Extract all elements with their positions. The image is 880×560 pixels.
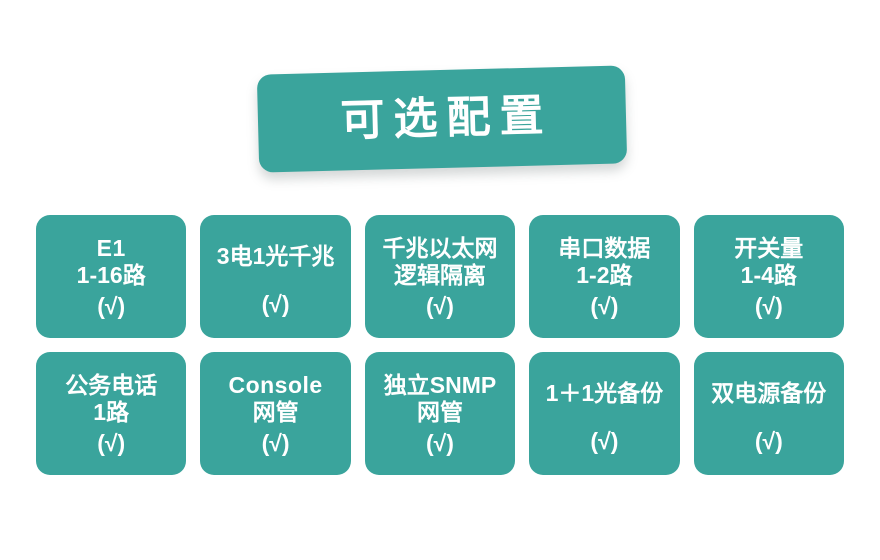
feature-card-label: 串口数据1-2路 [558, 235, 650, 289]
feature-card-line: 1路 [93, 399, 129, 426]
feature-card-line: 网管 [253, 399, 299, 426]
banner-title: 可选配置 [257, 65, 627, 172]
check-mark-icon: (√) [590, 293, 618, 320]
feature-card[interactable]: 公务电话1路(√) [36, 352, 186, 475]
feature-card[interactable]: 串口数据1-2路(√) [529, 215, 679, 338]
feature-card-line: 开关量 [734, 235, 803, 262]
feature-card-label: 公务电话1路 [65, 372, 157, 426]
feature-card[interactable]: 3电1光千兆(√) [200, 215, 350, 338]
feature-card[interactable]: E11-16路(√) [36, 215, 186, 338]
feature-card-line: 千兆以太网 [382, 235, 497, 262]
feature-card[interactable]: 双电源备份(√) [694, 352, 844, 475]
feature-card-line: 网管 [417, 399, 463, 426]
feature-card-line: 1＋1光备份 [546, 380, 664, 407]
feature-card-grid: E11-16路(√)3电1光千兆(√)千兆以太网逻辑隔离(√)串口数据1-2路(… [36, 215, 844, 475]
feature-card[interactable]: 开关量1-4路(√) [694, 215, 844, 338]
feature-card-label: 千兆以太网逻辑隔离 [382, 235, 497, 289]
feature-card-label: 独立SNMP网管 [384, 372, 496, 426]
check-mark-icon: (√) [590, 428, 618, 455]
feature-card-label: 3电1光千兆 [217, 243, 335, 270]
check-mark-icon: (√) [426, 293, 454, 320]
feature-card-line: 1-16路 [77, 262, 146, 289]
page-root: 可选配置 E11-16路(√)3电1光千兆(√)千兆以太网逻辑隔离(√)串口数据… [0, 0, 880, 560]
check-mark-icon: (√) [755, 293, 783, 320]
feature-card-line: E1 [97, 235, 126, 262]
feature-card-line: 逻辑隔离 [394, 262, 486, 289]
feature-card[interactable]: 独立SNMP网管(√) [365, 352, 515, 475]
check-mark-icon: (√) [97, 293, 125, 320]
feature-card-line: 1-4路 [741, 262, 797, 289]
check-mark-icon: (√) [262, 291, 290, 318]
section-banner: 可选配置 [258, 70, 626, 168]
feature-card[interactable]: 千兆以太网逻辑隔离(√) [365, 215, 515, 338]
feature-card-line: 串口数据 [558, 235, 650, 262]
feature-card-line: 1-2路 [576, 262, 632, 289]
check-mark-icon: (√) [755, 428, 783, 455]
feature-card-line: 双电源备份 [711, 380, 826, 407]
feature-card-label: 双电源备份 [711, 380, 826, 407]
feature-card-line: 独立SNMP [384, 372, 496, 399]
feature-card[interactable]: 1＋1光备份(√) [529, 352, 679, 475]
feature-card-label: Console网管 [228, 372, 322, 426]
feature-card[interactable]: Console网管(√) [200, 352, 350, 475]
check-mark-icon: (√) [97, 430, 125, 457]
feature-card-line: 公务电话 [65, 372, 157, 399]
feature-card-line: 3电1光千兆 [217, 243, 335, 270]
feature-card-label: 1＋1光备份 [546, 380, 664, 407]
feature-card-label: E11-16路 [77, 235, 146, 289]
check-mark-icon: (√) [426, 430, 454, 457]
feature-card-line: Console [228, 372, 322, 399]
feature-card-label: 开关量1-4路 [734, 235, 803, 289]
check-mark-icon: (√) [262, 430, 290, 457]
